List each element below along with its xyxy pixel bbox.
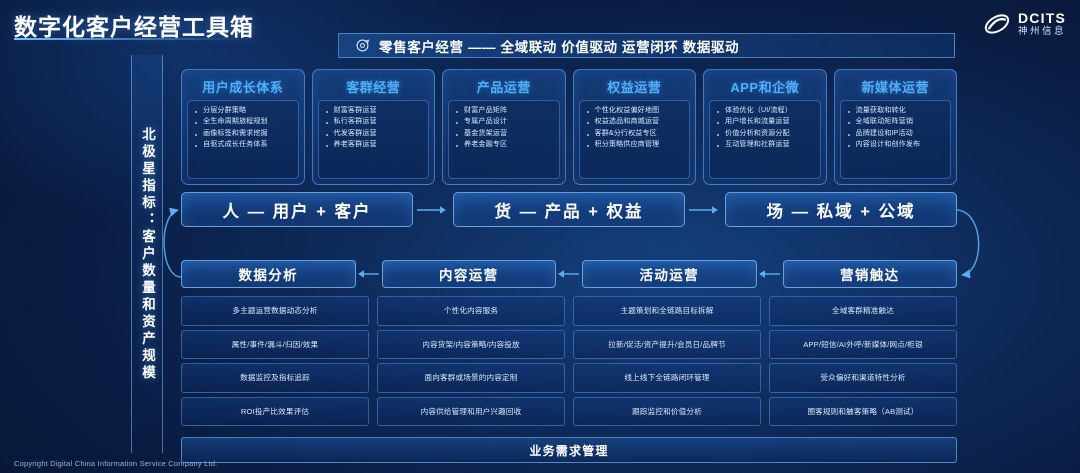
arrow-left-icon: [556, 268, 582, 280]
operation-detail-cell[interactable]: APP/短信/AI外呼/新媒体/网点/柜银: [769, 330, 957, 360]
operation-detail-cell[interactable]: 属性/事件/漏斗/归因/效果: [181, 330, 369, 360]
capability-card-item: 基金货架运营: [454, 128, 556, 139]
operation-detail-cell[interactable]: 线上线下全链路闭环管理: [573, 363, 761, 393]
capability-card-item: 代发客群运营: [324, 128, 426, 139]
capability-card-item: 自驱式成长任务体系: [193, 139, 295, 150]
capability-card-title: APP和企微: [709, 74, 821, 100]
operation-detail-cell[interactable]: 内容供给管理和用户兴趣回收: [377, 397, 565, 427]
capability-card-item: 内容设计和创作发布: [846, 139, 948, 150]
capability-card[interactable]: 新媒体运营流量获取和转化全域联动矩阵营销品牌建设和IP活动内容设计和创作发布: [834, 69, 958, 185]
operation-detail-cell[interactable]: 全域客群精准触达: [769, 296, 957, 326]
bottom-bar: 业务需求管理: [181, 437, 957, 463]
capability-card-item: 品牌建设和IP活动: [846, 128, 948, 139]
copyright-text: Copyright Digital China Information Serv…: [14, 459, 217, 468]
capability-card-body: 财富客群运营私行客群运营代发客群运营养老客群运营: [318, 100, 430, 179]
arrow-left-icon: [356, 268, 382, 280]
operation-detail-cell[interactable]: 受众偏好和渠道特性分析: [769, 363, 957, 393]
capability-card-item: 财富产品矩阵: [454, 105, 556, 116]
capability-card-title: 产品运营: [448, 74, 560, 100]
operation-detail-cell[interactable]: 数据监控及指标追踪: [181, 363, 369, 393]
capability-card[interactable]: 产品运营财富产品矩阵专属产品设计基金货架运营养老金融专区: [442, 69, 566, 185]
target-cycle-icon: [355, 38, 370, 53]
capability-card[interactable]: 权益运营个性化权益偏好地图权益选品和商城运营客群&分行权益专区积分策略供应商管理: [573, 69, 697, 185]
capability-card-item: 客群&分行权益专区: [585, 128, 687, 139]
capability-card-body: 财富产品矩阵专属产品设计基金货架运营养老金融专区: [448, 100, 560, 179]
capability-card-item: 权益选品和商城运营: [585, 116, 687, 127]
operation-detail-cell[interactable]: 面向客群或场景的内容定制: [377, 363, 565, 393]
northstar-metric-label: 北极星指标：客户数量和资产规模: [131, 55, 163, 453]
capability-card-title: 客群经营: [318, 74, 430, 100]
capability-card-item: 互动管理和社群运营: [715, 139, 817, 150]
capability-card[interactable]: APP和企微体验优化（UI/流程）用户增长和流量运营价值分析和资源分配互动管理和…: [703, 69, 827, 185]
bottom-bar-label: 业务需求管理: [529, 442, 608, 459]
pillar-3[interactable]: 场 — 私域 + 公域: [725, 192, 957, 227]
capability-card-body: 流量获取和转化全域联动矩阵营销品牌建设和IP活动内容设计和创作发布: [840, 100, 952, 179]
operation-detail-cell[interactable]: 内容货架/内容策略/内容投放: [377, 330, 565, 360]
capability-card-item: 分层分群策略: [193, 105, 295, 116]
arrow-right-icon: [685, 204, 725, 216]
arrow-right-icon: [413, 204, 453, 216]
operation-detail-cell[interactable]: 个性化内容服务: [377, 296, 565, 326]
title-underline: [14, 38, 242, 40]
capability-card-item: 养老金融专区: [454, 139, 556, 150]
capability-card-title: 权益运营: [579, 74, 691, 100]
capability-card-item: 个性化权益偏好地图: [585, 105, 687, 116]
banner-text: 零售客户经营 —— 全域联动 价值驱动 运营闭环 数据驱动: [379, 36, 739, 56]
operations-header-row: 数据分析内容运营活动运营营销触达: [181, 260, 957, 288]
capability-card-body: 分层分群策略全生命周期旅程规划画像标签和需求挖掘自驱式成长任务体系: [187, 100, 299, 179]
pillar-1[interactable]: 人 — 用户 + 客户: [181, 192, 413, 227]
arrow-left-icon: [757, 268, 783, 280]
capability-card-item: 价值分析和资源分配: [715, 128, 817, 139]
capability-card-title: 用户成长体系: [187, 74, 299, 100]
operation-detail-cell[interactable]: 多主题运营数据动态分析: [181, 296, 369, 326]
capability-card[interactable]: 客群经营财富客群运营私行客群运营代发客群运营养老客群运营: [312, 69, 436, 185]
brand-logo: DCITS 神州信息: [983, 10, 1066, 38]
capability-card-item: 私行客群运营: [324, 116, 426, 127]
capability-card-item: 全生命周期旅程规划: [193, 116, 295, 127]
capability-cards: 用户成长体系分层分群策略全生命周期旅程规划画像标签和需求挖掘自驱式成长任务体系客…: [181, 69, 957, 185]
capability-card-body: 体验优化（UI/流程）用户增长和流量运营价值分析和资源分配互动管理和社群运营: [709, 100, 821, 179]
dcits-swirl-icon: [983, 10, 1011, 38]
capability-card-item: 体验优化（UI/流程）: [715, 105, 817, 116]
operation-detail-cell[interactable]: 跟踪监控和价值分析: [573, 397, 761, 427]
operation-detail-cell[interactable]: 圈客规则和触客策略（AB测试）: [769, 397, 957, 427]
operation-header-2[interactable]: 内容运营: [382, 260, 557, 288]
capability-card-item: 积分策略供应商管理: [585, 139, 687, 150]
logo-text-en: DCITS: [1018, 11, 1066, 25]
pillar-2[interactable]: 货 — 产品 + 权益: [453, 192, 685, 227]
operation-detail-cell[interactable]: 拉新/促活/资产提升/会员日/品牌节: [573, 330, 761, 360]
pillar-row: 人 — 用户 + 客户货 — 产品 + 权益场 — 私域 + 公域: [181, 192, 957, 227]
operations-detail-grid: 多主题运营数据动态分析个性化内容服务主题策划和全链路目标拆解全域客群精准触达属性…: [181, 296, 957, 426]
operation-header-3[interactable]: 活动运营: [582, 260, 757, 288]
page-title: 数字化客户经营工具箱: [14, 8, 254, 42]
capability-card-body: 个性化权益偏好地图权益选品和商城运营客群&分行权益专区积分策略供应商管理: [579, 100, 691, 179]
operation-header-1[interactable]: 数据分析: [181, 260, 356, 288]
capability-card-item: 专属产品设计: [454, 116, 556, 127]
capability-card-item: 全域联动矩阵营销: [846, 116, 948, 127]
capability-card-item: 用户增长和流量运营: [715, 116, 817, 127]
capability-card[interactable]: 用户成长体系分层分群策略全生命周期旅程规划画像标签和需求挖掘自驱式成长任务体系: [181, 69, 305, 185]
banner: 零售客户经营 —— 全域联动 价值驱动 运营闭环 数据驱动: [338, 33, 955, 58]
logo-text-cn: 神州信息: [1018, 27, 1066, 37]
capability-card-item: 财富客群运营: [324, 105, 426, 116]
capability-card-title: 新媒体运营: [840, 74, 952, 100]
operation-detail-cell[interactable]: 主题策划和全链路目标拆解: [573, 296, 761, 326]
northstar-text: 北极星指标：客户数量和资产规模: [137, 127, 157, 382]
capability-card-item: 画像标签和需求挖掘: [193, 128, 295, 139]
operation-header-4[interactable]: 营销触达: [783, 260, 958, 288]
operation-detail-cell[interactable]: ROI投产比效果评估: [181, 397, 369, 427]
capability-card-item: 流量获取和转化: [846, 105, 948, 116]
slide-canvas: 数字化客户经营工具箱 DCITS 神州信息 北极星指标：客户数量和资产规模 零售…: [0, 0, 1080, 473]
capability-card-item: 养老客群运营: [324, 139, 426, 150]
